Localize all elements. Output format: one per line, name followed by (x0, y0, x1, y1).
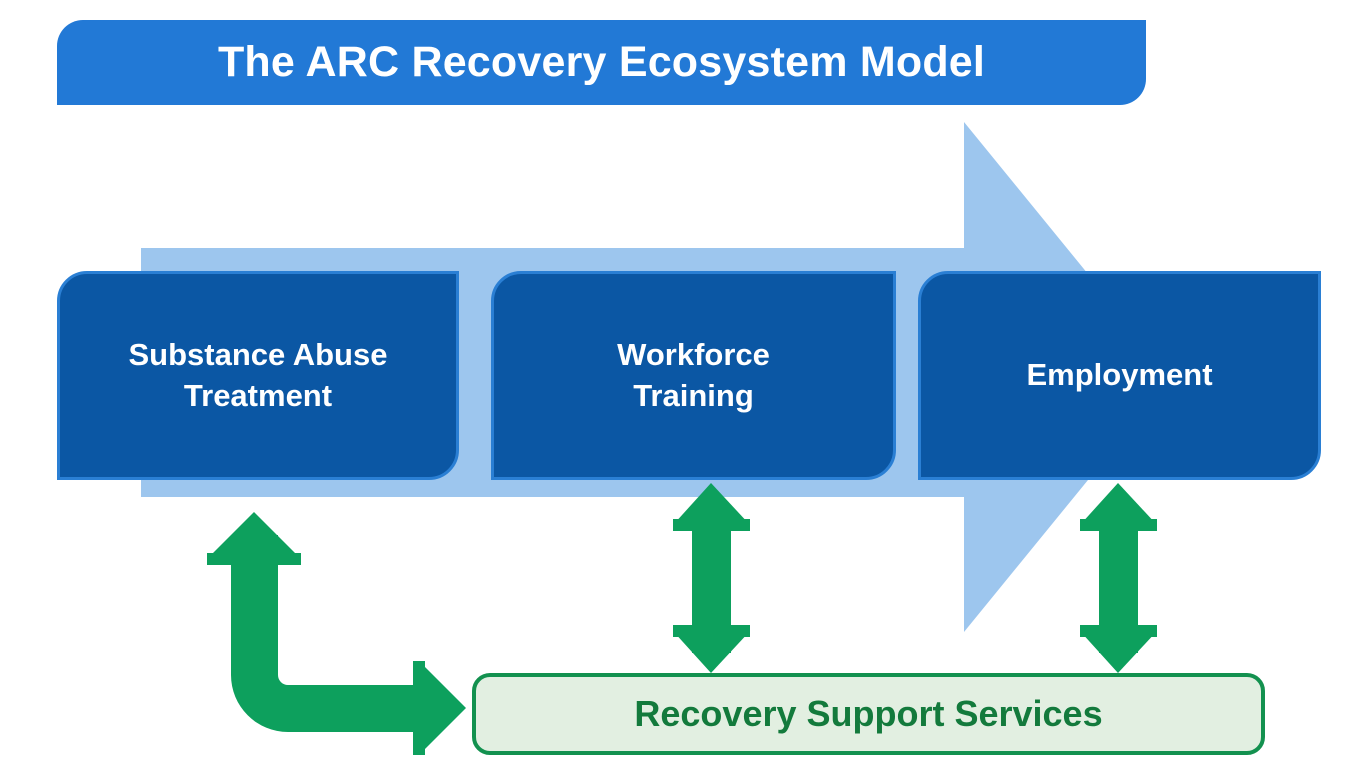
pillar-substance-abuse-treatment[interactable]: Substance Abuse Treatment (57, 271, 459, 480)
connector-support-to-employment-icon (1080, 483, 1157, 673)
page-title: The ARC Recovery Ecosystem Model (218, 41, 985, 84)
title-banner: The ARC Recovery Ecosystem Model (57, 20, 1146, 105)
diagram-canvas: The ARC Recovery Ecosystem Model Substan… (0, 0, 1366, 768)
pillar-workforce-training[interactable]: Workforce Training (491, 271, 896, 480)
support-services-box[interactable]: Recovery Support Services (472, 673, 1265, 755)
pillar-employment[interactable]: Employment (918, 271, 1321, 480)
pillar-label: Substance Abuse Treatment (119, 335, 398, 417)
connector-support-to-workforce-icon (673, 483, 750, 673)
pillar-label: Employment (1016, 355, 1222, 396)
support-services-label: Recovery Support Services (634, 696, 1102, 732)
connector-support-to-treatment-icon (207, 512, 466, 755)
pillar-label: Workforce Training (607, 335, 780, 417)
